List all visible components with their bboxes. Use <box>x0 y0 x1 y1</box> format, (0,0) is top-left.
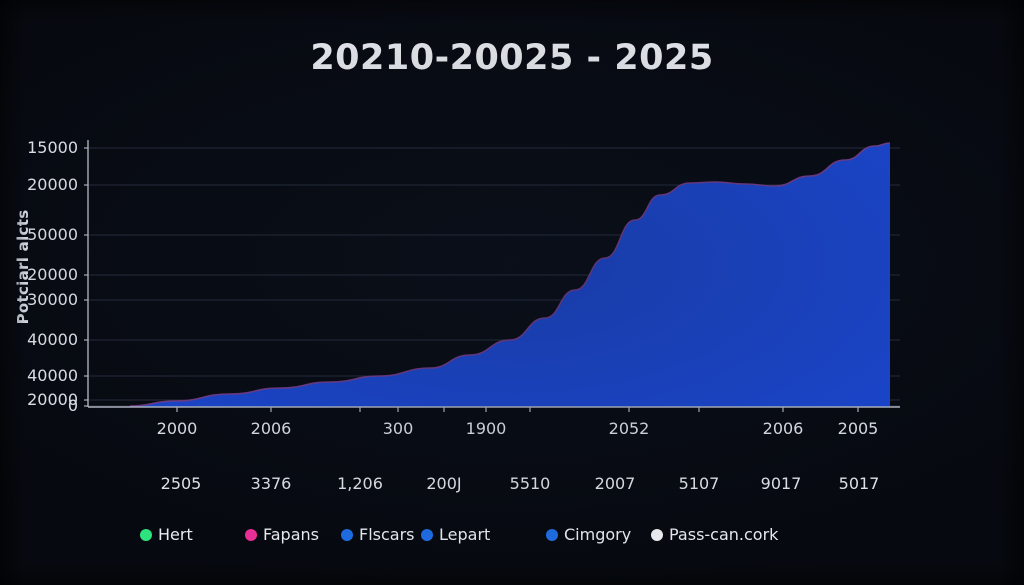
x-tick-label: 2052 <box>609 419 650 438</box>
x-axis-sub-values: 250533761,206200J55102007510790175017 <box>0 474 1024 498</box>
x-axis-sub-value: 9017 <box>761 474 802 493</box>
x-axis-sub-value: 2007 <box>595 474 636 493</box>
y-tick-label: 15000 <box>27 140 78 156</box>
x-tick-label: 2006 <box>763 419 804 438</box>
x-tick-label: 300 <box>383 419 414 438</box>
y-tick-label: 0 <box>68 398 78 414</box>
legend-swatch-dot-icon <box>245 529 257 541</box>
y-tick-label: 20000 <box>27 177 78 193</box>
x-tick-label: 2000 <box>157 419 198 438</box>
legend-label: Lepart <box>439 527 490 543</box>
legend-swatch-dot-icon <box>140 529 152 541</box>
legend-swatch-dot-icon <box>546 529 558 541</box>
legend-label: Flscars <box>359 527 415 543</box>
legend-item[interactable]: Hert <box>140 524 193 546</box>
y-tick-label: 20000 <box>27 267 78 283</box>
legend-swatch-dot-icon <box>421 529 433 541</box>
y-tick-label: 30000 <box>27 292 78 308</box>
x-axis-sub-value: 5510 <box>510 474 551 493</box>
legend-item[interactable]: Lepart <box>421 524 490 546</box>
legend-label: Hert <box>158 527 193 543</box>
x-axis-sub-value: 5107 <box>679 474 720 493</box>
legend-label: Fapans <box>263 527 319 543</box>
x-axis-sub-value: 1,206 <box>337 474 383 493</box>
legend-item[interactable]: Pass-can.cork <box>651 524 778 546</box>
x-axis-tick-labels: 200020063001900205220062005 <box>0 419 1024 443</box>
legend-swatch-dot-icon <box>341 529 353 541</box>
x-axis-sub-value: 2505 <box>161 474 202 493</box>
legend-label: Pass-can.cork <box>669 527 778 543</box>
legend-item[interactable]: Fapans <box>245 524 319 546</box>
y-axis-title: Potciarl alcts <box>14 202 32 332</box>
x-tick-label: 2006 <box>251 419 292 438</box>
x-axis-sub-value: 200J <box>426 474 461 493</box>
y-tick-label: 40000 <box>27 332 78 348</box>
x-axis-sub-value: 5017 <box>839 474 880 493</box>
legend-swatch-dot-icon <box>651 529 663 541</box>
x-tick-label: 2005 <box>838 419 879 438</box>
x-tick-marks <box>177 407 858 412</box>
legend-item[interactable]: Cimgory <box>546 524 631 546</box>
x-tick-label: 1900 <box>466 419 507 438</box>
legend-label: Cimgory <box>564 527 631 543</box>
x-axis-sub-value: 3376 <box>251 474 292 493</box>
chart-legend: HertFapansFlscarsLepartCimgoryPass-can.c… <box>0 524 1024 550</box>
legend-item[interactable]: Flscars <box>341 524 415 546</box>
y-tick-label: 40000 <box>27 368 78 384</box>
chart-figure: 20210-20025 - 2025 150002000050000200003… <box>0 0 1024 585</box>
y-tick-label: 50000 <box>27 227 78 243</box>
